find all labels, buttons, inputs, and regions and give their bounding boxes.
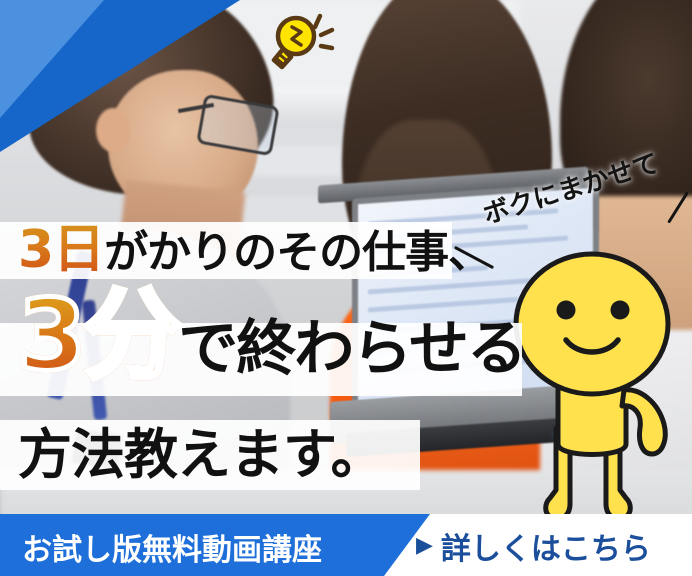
headline-line-1-rest: がかりのその仕事、 [104, 227, 491, 278]
cta-link[interactable]: ▶ 詳しくはこちら [416, 524, 651, 568]
headline-line-1-highlight: 3日 [18, 220, 104, 280]
cta-bar[interactable]: お試し版無料動画講座 ▶ 詳しくはこちら [0, 514, 692, 576]
play-arrow-icon: ▶ [416, 535, 433, 557]
corner-accent-light [0, 0, 104, 118]
lightbulb-icon [262, 8, 338, 74]
headline-line-2: 3分で終わらせる [18, 300, 525, 385]
headline-line-3: 方法教えます。 [18, 424, 384, 486]
headline-line-2-rest: で終わらせる [178, 314, 525, 384]
cta-left-label: お試し版無料動画講座 [22, 525, 322, 569]
headline-line-1: 3日がかりのその仕事、 [18, 224, 491, 279]
headline-line-2-highlight: 3分 [18, 279, 178, 393]
cta-right-label: 詳しくはこちら [441, 524, 651, 568]
promo-banner: ボクにまかせて 3日がかりのその仕事、 [0, 0, 692, 576]
